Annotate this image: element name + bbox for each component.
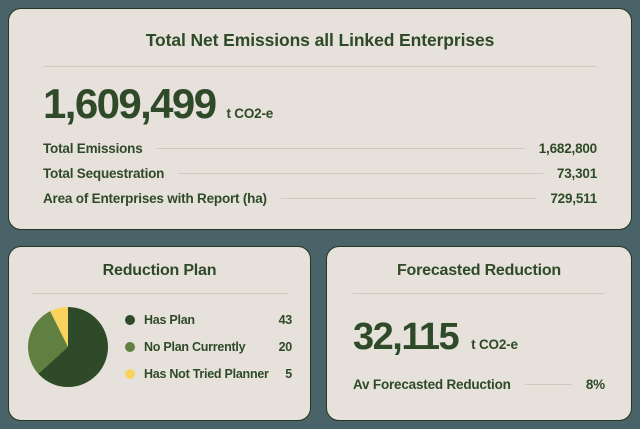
page-title: Total Net Emissions all Linked Enterpris… — [35, 29, 605, 51]
forecasted-reduction-card: Forecasted Reduction 32,115 t CO2-e Av F… — [326, 246, 632, 421]
total-headline-stat: 1,609,499 t CO2-e — [35, 81, 605, 127]
metric-label: Av Forecasted Reduction — [353, 377, 511, 392]
title-divider — [353, 293, 605, 294]
legend-value: 20 — [279, 340, 292, 354]
reduction-plan-body: Has Plan 43 No Plan Currently 20 Has Not… — [25, 306, 294, 387]
metric-value: 1,682,800 — [539, 141, 597, 156]
metric-row-area-of-enterprises: Area of Enterprises with Report (ha) 729… — [43, 186, 597, 211]
metric-row-av-forecasted-reduction: Av Forecasted Reduction 8% — [353, 372, 605, 397]
metric-connector — [178, 173, 543, 174]
dashboard: Total Net Emissions all Linked Enterpris… — [0, 0, 640, 429]
metric-label: Area of Enterprises with Report (ha) — [43, 191, 267, 206]
forecasted-headline-unit: t CO2-e — [471, 337, 518, 352]
legend-value: 43 — [279, 313, 292, 327]
metric-label: Total Sequestration — [43, 166, 164, 181]
metric-connector — [157, 148, 525, 149]
metric-value: 729,511 — [550, 191, 597, 206]
forecasted-headline-stat: 32,115 t CO2-e — [347, 316, 611, 358]
metric-row-total-emissions: Total Emissions 1,682,800 — [43, 136, 597, 161]
legend-label: Has Not Tried Planner — [144, 367, 269, 381]
legend-color-dot-icon — [125, 369, 135, 379]
total-headline-unit: t CO2-e — [226, 106, 273, 121]
reduction-plan-title: Reduction Plan — [25, 261, 294, 281]
metric-value: 73,301 — [557, 166, 597, 181]
metric-value: 8% — [586, 377, 605, 392]
pie-legend: Has Plan 43 No Plan Currently 20 Has Not… — [125, 306, 294, 387]
forecasted-reduction-title: Forecasted Reduction — [347, 261, 611, 281]
metric-connector — [525, 384, 572, 385]
legend-label: Has Plan — [144, 313, 195, 327]
legend-item-no-plan-currently: No Plan Currently 20 — [125, 333, 292, 360]
legend-value: 5 — [285, 367, 292, 381]
metric-label: Total Emissions — [43, 141, 143, 156]
title-divider — [43, 66, 597, 67]
total-net-emissions-card: Total Net Emissions all Linked Enterpris… — [8, 8, 632, 230]
title-divider — [31, 293, 288, 294]
total-metric-list: Total Emissions 1,682,800 Total Sequestr… — [35, 136, 605, 211]
legend-item-has-plan: Has Plan 43 — [125, 306, 292, 333]
legend-color-dot-icon — [125, 342, 135, 352]
legend-label: No Plan Currently — [144, 340, 245, 354]
forecasted-metric-list: Av Forecasted Reduction 8% — [347, 372, 611, 397]
legend-item-has-not-tried-planner: Has Not Tried Planner 5 — [125, 360, 292, 387]
total-headline-value: 1,609,499 — [43, 81, 215, 127]
reduction-plan-pie-chart — [28, 307, 108, 387]
legend-color-dot-icon — [125, 315, 135, 325]
metric-connector — [281, 198, 537, 199]
metric-row-total-sequestration: Total Sequestration 73,301 — [43, 161, 597, 186]
forecasted-headline-value: 32,115 — [353, 316, 458, 358]
reduction-plan-card: Reduction Plan Has Plan 43 No Plan Curre… — [8, 246, 311, 421]
